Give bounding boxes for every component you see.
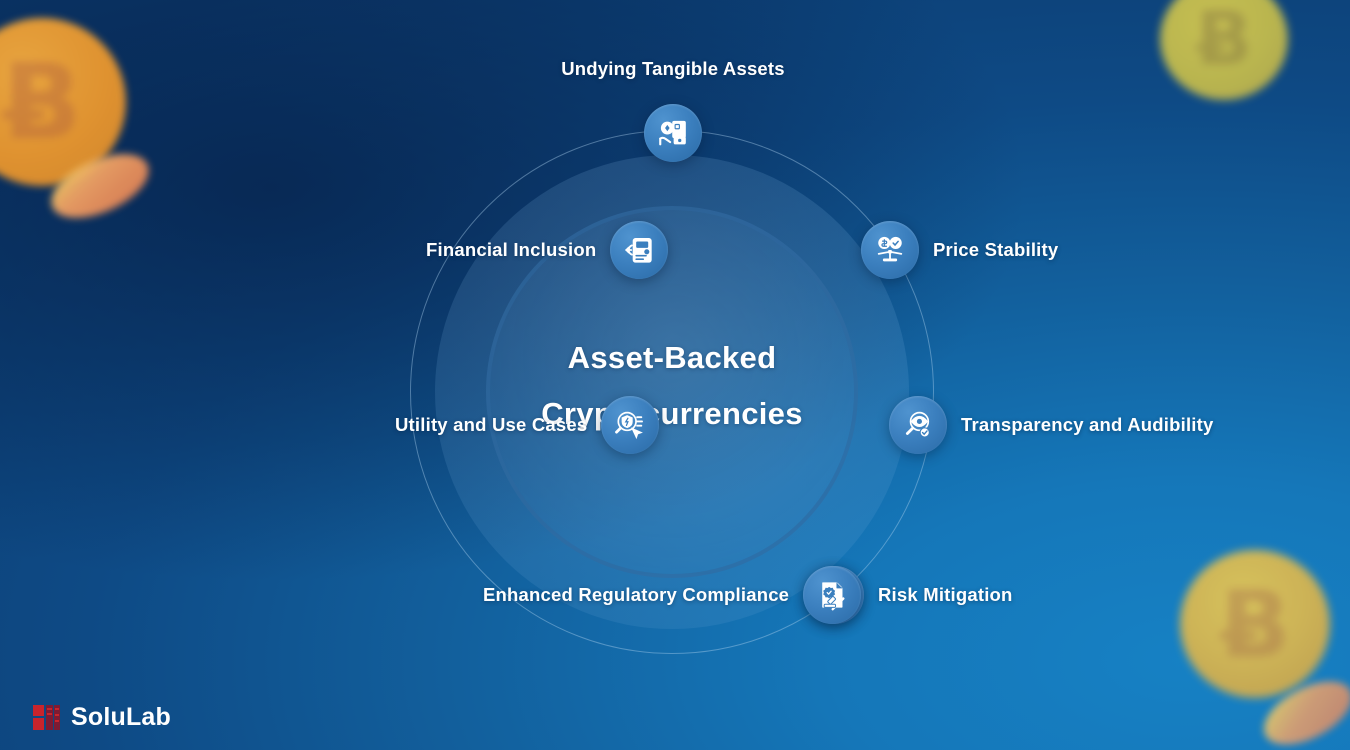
node-label: Enhanced Regulatory Compliance	[483, 584, 789, 606]
node-label: Financial Inclusion	[426, 239, 596, 261]
magnifier-eye-check-icon[interactable]	[889, 396, 947, 454]
node-utility-and-use-cases[interactable]: Utility and Use Cases	[395, 396, 659, 454]
node-label: Risk Mitigation	[878, 584, 1013, 606]
node-price-stability[interactable]: Price Stability	[861, 221, 1058, 279]
brand-name: SoluLab	[71, 703, 171, 732]
node-label: Price Stability	[933, 239, 1058, 261]
node-transparency-and-audibility[interactable]: Transparency and Audibility	[889, 396, 1213, 454]
solulab-logo-mark-icon	[33, 705, 60, 730]
center-title-line-1: Asset-Backed	[472, 330, 872, 386]
bitcoin-coin-bottom-right-icon: Ƀ	[1180, 550, 1330, 698]
node-enhanced-regulatory-compliance[interactable]: Enhanced Regulatory Compliance	[483, 566, 861, 624]
node-undying-tangible-assets[interactable]: Undying Tangible Assets	[539, 58, 807, 162]
document-seal-gavel-icon[interactable]	[803, 566, 861, 624]
node-label: Transparency and Audibility	[961, 414, 1213, 436]
brand-logo[interactable]: SoluLab	[33, 703, 171, 732]
hand-holding-assets-icon[interactable]	[644, 104, 702, 162]
balance-scale-coins-icon[interactable]	[861, 221, 919, 279]
wallet-icon[interactable]	[610, 221, 668, 279]
node-financial-inclusion[interactable]: Financial Inclusion	[426, 221, 668, 279]
bitcoin-coin-top-right-icon: Ƀ	[1160, 0, 1288, 100]
node-label: Undying Tangible Assets	[561, 58, 785, 80]
magnifier-shield-cursor-icon[interactable]	[601, 396, 659, 454]
node-label: Utility and Use Cases	[395, 414, 587, 436]
bitcoin-symbol: Ƀ	[1180, 550, 1330, 698]
bitcoin-symbol: Ƀ	[1160, 0, 1288, 100]
